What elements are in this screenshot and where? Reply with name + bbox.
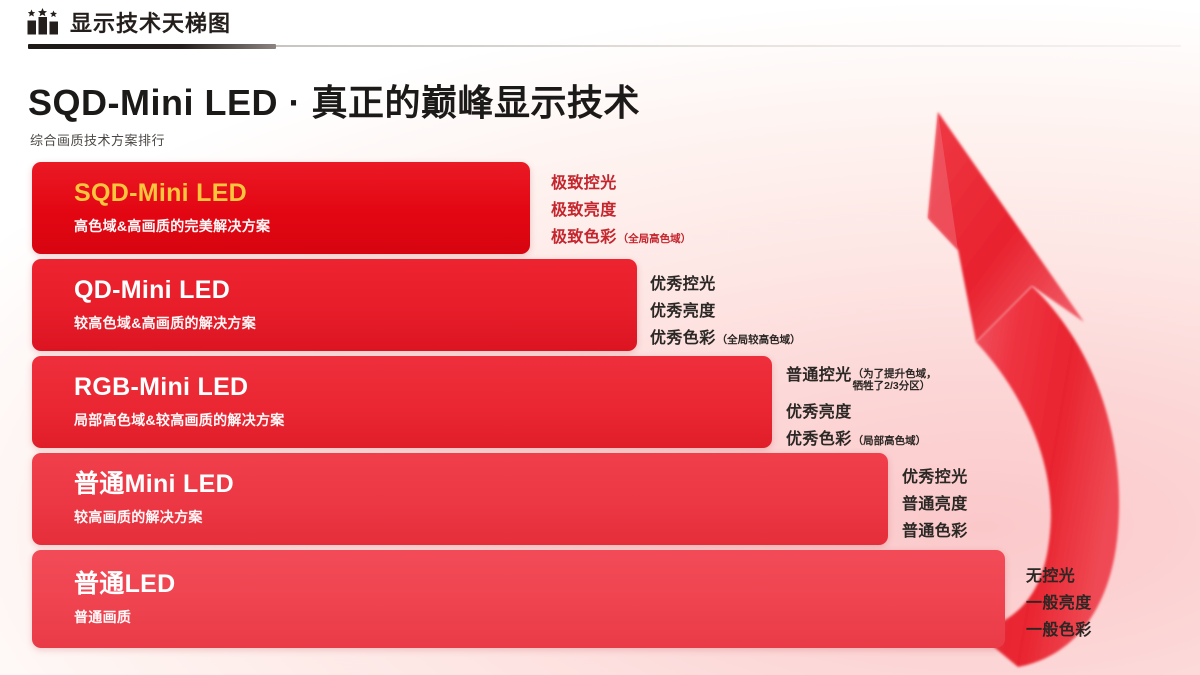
spec-text: 一般亮度: [1026, 589, 1092, 613]
spec-text: 优秀控光: [650, 270, 716, 294]
spec-row: 极致控光: [551, 169, 691, 193]
spec-note: （全局较高色域）: [717, 332, 801, 347]
tier-bar[interactable]: 普通Mini LED 较高画质的解决方案: [32, 453, 888, 545]
spec-row: 极致亮度: [551, 196, 691, 220]
spec-row: 优秀色彩 （局部高色域）: [786, 425, 937, 449]
tier-bar[interactable]: SQD-Mini LED 高色域&高画质的完美解决方案: [32, 162, 530, 254]
spec-row: 极致色彩 （全局高色域）: [551, 223, 691, 247]
tier-subtitle: 局部高色域&较高画质的解决方案: [74, 410, 772, 430]
tier-specs: 优秀控光 普通亮度 普通色彩: [902, 463, 969, 541]
tier-subtitle: 高色域&高画质的完美解决方案: [74, 216, 530, 236]
spec-row: 一般色彩: [1026, 616, 1093, 640]
tier-name: RGB-Mini LED: [74, 374, 772, 402]
spec-text: 极致控光: [551, 169, 617, 193]
spec-text: 极致亮度: [551, 196, 617, 220]
spec-row: 普通亮度: [902, 490, 969, 514]
spec-text: 优秀色彩: [786, 425, 852, 449]
spec-row: 普通色彩: [902, 517, 969, 541]
spec-text: 极致色彩: [551, 223, 617, 247]
spec-row: 无控光: [1026, 562, 1093, 586]
tier-name: QD-Mini LED: [74, 277, 637, 305]
spec-note: （为了提升色域， 牺牲了2/3分区）: [853, 369, 937, 393]
ladder-row[interactable]: SQD-Mini LED 高色域&高画质的完美解决方案: [32, 162, 530, 254]
tech-ladder: SQD-Mini LED 高色域&高画质的完美解决方案 极致控光 极致亮度 极致…: [0, 0, 1200, 675]
tier-specs: 优秀控光 优秀亮度 优秀色彩 （全局较高色域）: [650, 270, 801, 348]
tier-name: SQD-Mini LED: [74, 180, 530, 208]
spec-row: 优秀亮度: [650, 297, 801, 321]
ladder-row[interactable]: QD-Mini LED 较高色域&高画质的解决方案: [32, 259, 637, 351]
ladder-row[interactable]: RGB-Mini LED 局部高色域&较高画质的解决方案: [32, 356, 772, 448]
spec-row: 优秀亮度: [786, 398, 937, 422]
spec-row: 优秀色彩 （全局较高色域）: [650, 324, 801, 348]
tier-name: 普通Mini LED: [74, 471, 888, 499]
spec-text: 优秀亮度: [650, 297, 716, 321]
tier-bar[interactable]: QD-Mini LED 较高色域&高画质的解决方案: [32, 259, 637, 351]
ladder-row[interactable]: 普通LED 普通画质: [32, 550, 1005, 648]
tier-specs: 极致控光 极致亮度 极致色彩 （全局高色域）: [551, 168, 691, 248]
tier-specs: 无控光 一般亮度 一般色彩: [1026, 562, 1093, 640]
spec-text: 无控光: [1026, 562, 1075, 586]
spec-row: 一般亮度: [1026, 589, 1093, 613]
tier-bar[interactable]: RGB-Mini LED 局部高色域&较高画质的解决方案: [32, 356, 772, 448]
ladder-row[interactable]: 普通Mini LED 较高画质的解决方案: [32, 453, 888, 545]
tier-specs: 普通控光 （为了提升色域， 牺牲了2/3分区） 优秀亮度 优秀色彩 （局部高色域…: [786, 366, 937, 444]
spec-row: 优秀控光: [650, 270, 801, 294]
tier-subtitle: 普通画质: [74, 607, 1005, 627]
spec-note: （局部高色域）: [853, 433, 927, 448]
tier-name: 普通LED: [74, 571, 1005, 599]
spec-text: 优秀控光: [902, 463, 968, 487]
slide-canvas: 显示技术天梯图 SQD-Mini LED · 真正的巅峰显示技术 综合画质技术方…: [0, 0, 1200, 675]
spec-text: 优秀色彩: [650, 324, 716, 348]
spec-text: 普通亮度: [902, 490, 968, 514]
spec-text: 普通控光: [786, 361, 852, 385]
spec-text: 一般色彩: [1026, 616, 1092, 640]
tier-subtitle: 较高色域&高画质的解决方案: [74, 313, 637, 333]
spec-note: （全局高色域）: [618, 231, 692, 246]
tier-bar[interactable]: 普通LED 普通画质: [32, 550, 1005, 648]
spec-row: 优秀控光: [902, 463, 969, 487]
spec-text: 普通色彩: [902, 517, 968, 541]
spec-row: 普通控光 （为了提升色域， 牺牲了2/3分区）: [786, 361, 937, 396]
tier-subtitle: 较高画质的解决方案: [74, 507, 888, 527]
spec-text: 优秀亮度: [786, 398, 852, 422]
